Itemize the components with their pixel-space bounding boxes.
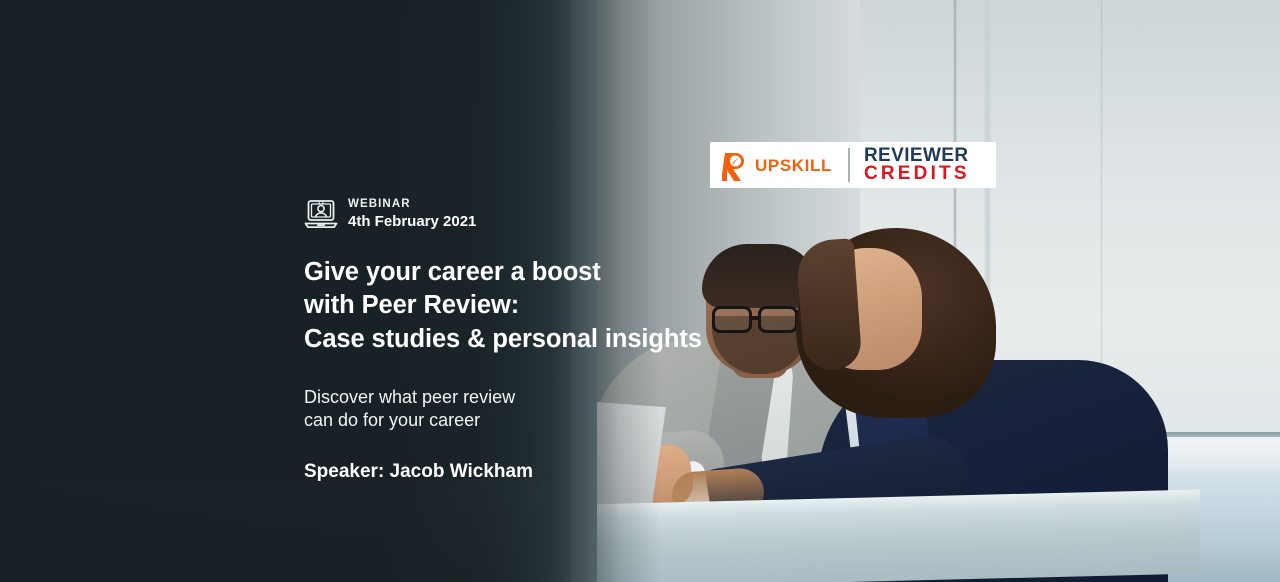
kicker-text-group: WEBINAR 4th February 2021	[348, 198, 476, 230]
banner-content: WEBINAR 4th February 2021 Give your care…	[304, 198, 724, 483]
man-eyeglasses-bridge	[752, 316, 760, 320]
upskill-wordmark: UPSKILL	[755, 157, 832, 174]
logo-lockup[interactable]: UPSKILL REVIEWER CREDITS	[710, 142, 996, 188]
woman-hair-strand	[796, 238, 863, 372]
subheadline: Discover what peer review can do for you…	[304, 386, 724, 432]
upskill-logo[interactable]: UPSKILL	[718, 149, 832, 181]
upskill-r-compass-icon	[722, 149, 752, 181]
man-eyeglasses-icon	[758, 306, 798, 333]
webinar-date: 4th February 2021	[348, 213, 476, 231]
credits-wordmark: CREDITS	[864, 165, 970, 183]
webinar-banner: UPSKILL REVIEWER CREDITS WEBINAR 4th Feb…	[0, 0, 1280, 582]
speaker-name: Speaker: Jacob Wickham	[304, 461, 724, 483]
webinar-laptop-person-icon	[304, 199, 338, 229]
logo-divider-icon	[848, 148, 850, 182]
webinar-label: WEBINAR	[348, 198, 476, 212]
webinar-kicker: WEBINAR 4th February 2021	[304, 198, 724, 230]
reviewercredits-logo[interactable]: REVIEWER CREDITS	[864, 147, 970, 183]
page-title: Give your career a boost with Peer Revie…	[304, 256, 724, 355]
